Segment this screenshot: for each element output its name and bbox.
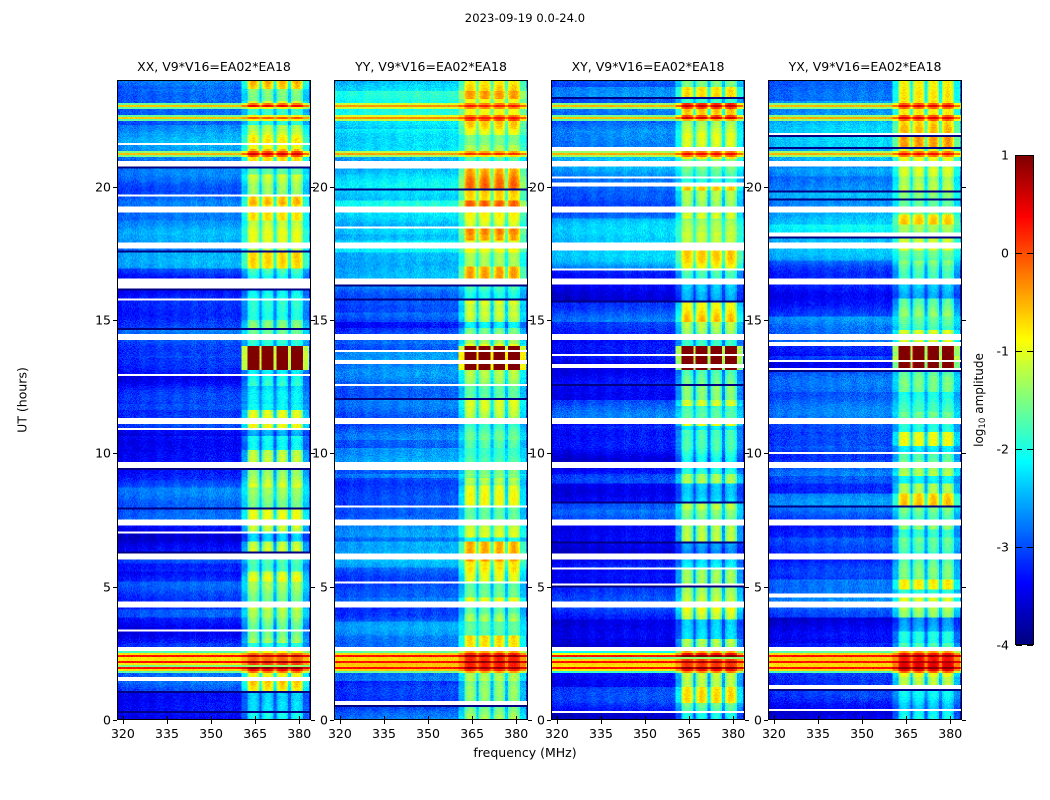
x-tick-inner: [862, 716, 863, 720]
y-tick: [547, 587, 551, 588]
y-tick-right: [528, 587, 532, 588]
x-tick-inner: [428, 716, 429, 720]
x-tick-inner: [774, 716, 775, 720]
y-tick-right: [962, 587, 966, 588]
x-tick: [384, 720, 385, 724]
x-tick-inner: [516, 716, 517, 720]
x-tick-label: 335: [806, 726, 830, 741]
colorbar-tick-label: 1: [981, 148, 1009, 163]
colorbar-tick: [1016, 547, 1022, 548]
x-tick-inner: [299, 716, 300, 720]
y-tick-label: 15: [746, 313, 762, 328]
x-tick-label: 380: [938, 726, 962, 741]
colorbar-tick-label: 0: [981, 246, 1009, 261]
x-tick: [557, 720, 558, 724]
colorbar-tick: [1016, 253, 1022, 254]
x-tick: [516, 720, 517, 724]
y-tick-label: 20: [529, 179, 545, 194]
colorbar-tick-right: [1027, 449, 1033, 450]
x-tick-inner: [384, 716, 385, 720]
y-tick: [764, 453, 768, 454]
x-tick-inner: [601, 716, 602, 720]
heatmap-yx[interactable]: [768, 80, 962, 720]
heatmap-yy[interactable]: [334, 80, 528, 720]
x-tick: [733, 720, 734, 724]
x-tick-inner: [340, 716, 341, 720]
colorbar-tick-label: -4: [981, 638, 1009, 653]
panel-yx: YX, V9*V16=EA02*EA18 3203353503653800510…: [768, 80, 962, 720]
y-tick: [764, 320, 768, 321]
colorbar-tick-right: [1027, 547, 1033, 548]
panel-xx: XX, V9*V16=EA02*EA18 3203353503653800510…: [117, 80, 311, 720]
colorbar-tick: [1016, 351, 1022, 352]
y-tick-label: 0: [754, 713, 762, 728]
x-tick-inner: [818, 716, 819, 720]
panel-title-xy: XY, V9*V16=EA02*EA18: [572, 59, 725, 74]
panel-yy: YY, V9*V16=EA02*EA18 3203353503653800510…: [334, 80, 528, 720]
y-tick-right: [962, 320, 966, 321]
y-tick-right: [962, 453, 966, 454]
x-tick: [689, 720, 690, 724]
x-tick-label: 365: [243, 726, 267, 741]
y-tick-label: 15: [95, 313, 111, 328]
y-tick-label: 10: [529, 446, 545, 461]
y-tick: [113, 453, 117, 454]
x-tick-label: 350: [416, 726, 440, 741]
y-tick-label: 10: [312, 446, 328, 461]
x-tick-label: 350: [633, 726, 657, 741]
y-tick-label: 0: [103, 713, 111, 728]
colorbar-tick-label: -3: [981, 540, 1009, 555]
y-tick: [113, 720, 117, 721]
y-tick-label: 0: [537, 713, 545, 728]
y-tick-label: 10: [746, 446, 762, 461]
x-tick-inner: [733, 716, 734, 720]
colorbar-tick-label: -2: [981, 442, 1009, 457]
y-tick-right: [745, 720, 749, 721]
figure-suptitle: 2023-09-19 0.0-24.0: [0, 11, 1050, 25]
x-tick: [774, 720, 775, 724]
panel-title-yy: YY, V9*V16=EA02*EA18: [355, 59, 507, 74]
y-tick-label: 5: [103, 579, 111, 594]
x-tick-label: 350: [199, 726, 223, 741]
colorbar[interactable]: [1015, 155, 1034, 645]
y-tick-label: 15: [529, 313, 545, 328]
y-tick: [547, 187, 551, 188]
x-tick: [472, 720, 473, 724]
heatmap-xx[interactable]: [117, 80, 311, 720]
x-tick: [906, 720, 907, 724]
colorbar-tick-right: [1027, 253, 1033, 254]
x-axis-label: frequency (MHz): [0, 745, 1050, 760]
y-tick: [764, 720, 768, 721]
y-tick-label: 20: [312, 179, 328, 194]
x-tick: [299, 720, 300, 724]
x-tick-label: 380: [287, 726, 311, 741]
x-tick: [818, 720, 819, 724]
panel-title-xx: XX, V9*V16=EA02*EA18: [137, 59, 291, 74]
y-tick-right: [528, 720, 532, 721]
y-tick: [547, 453, 551, 454]
y-tick: [113, 187, 117, 188]
x-tick-inner: [557, 716, 558, 720]
x-tick-label: 320: [545, 726, 569, 741]
x-tick-label: 365: [460, 726, 484, 741]
y-tick: [330, 453, 334, 454]
x-tick-inner: [167, 716, 168, 720]
x-tick-label: 335: [372, 726, 396, 741]
colorbar-tick-label: -1: [981, 344, 1009, 359]
y-tick: [330, 587, 334, 588]
x-tick: [211, 720, 212, 724]
x-tick: [167, 720, 168, 724]
x-tick-label: 380: [504, 726, 528, 741]
x-tick-label: 320: [328, 726, 352, 741]
panel-title-yx: YX, V9*V16=EA02*EA18: [789, 59, 942, 74]
x-tick: [601, 720, 602, 724]
colorbar-tick-right: [1027, 351, 1033, 352]
x-tick-label: 335: [155, 726, 179, 741]
colorbar-label-rest: amplitude: [972, 353, 986, 417]
x-tick: [645, 720, 646, 724]
x-tick-label: 365: [677, 726, 701, 741]
x-tick-inner: [645, 716, 646, 720]
x-tick-label: 365: [894, 726, 918, 741]
y-tick: [113, 587, 117, 588]
colorbar-tick-right: [1027, 645, 1033, 646]
y-tick-label: 0: [320, 713, 328, 728]
x-tick: [340, 720, 341, 724]
x-tick-label: 320: [111, 726, 135, 741]
y-tick-label: 5: [754, 579, 762, 594]
y-tick-right: [962, 187, 966, 188]
x-tick-label: 380: [721, 726, 745, 741]
y-axis-label: UT (hours): [15, 367, 30, 433]
colorbar-label: log10 amplitude: [972, 353, 988, 447]
y-tick: [113, 320, 117, 321]
colorbar-tick: [1016, 155, 1022, 156]
y-tick-label: 15: [312, 313, 328, 328]
x-tick-label: 335: [589, 726, 613, 741]
colorbar-tick: [1016, 645, 1022, 646]
colorbar-tick-right: [1027, 155, 1033, 156]
x-tick-label: 320: [762, 726, 786, 741]
x-tick: [255, 720, 256, 724]
y-tick-label: 5: [320, 579, 328, 594]
y-tick: [330, 320, 334, 321]
x-tick-inner: [255, 716, 256, 720]
y-tick-label: 10: [95, 446, 111, 461]
x-tick-inner: [906, 716, 907, 720]
x-tick: [950, 720, 951, 724]
figure-canvas: 2023-09-19 0.0-24.0 XX, V9*V16=EA02*EA18…: [0, 0, 1050, 800]
y-tick-right: [962, 720, 966, 721]
y-tick-label: 5: [537, 579, 545, 594]
y-tick-label: 20: [95, 179, 111, 194]
colorbar-label-sub: 10: [978, 418, 988, 429]
y-tick: [764, 587, 768, 588]
x-tick-label: 350: [850, 726, 874, 741]
y-tick: [764, 187, 768, 188]
y-tick: [330, 187, 334, 188]
x-tick-inner: [123, 716, 124, 720]
x-tick-inner: [950, 716, 951, 720]
y-tick-label: 20: [746, 179, 762, 194]
panel-xy: XY, V9*V16=EA02*EA18 3203353503653800510…: [551, 80, 745, 720]
heatmap-xy[interactable]: [551, 80, 745, 720]
y-tick: [330, 720, 334, 721]
y-tick-right: [745, 587, 749, 588]
x-tick: [862, 720, 863, 724]
x-tick-inner: [472, 716, 473, 720]
x-tick-inner: [211, 716, 212, 720]
y-tick: [547, 320, 551, 321]
colorbar-tick: [1016, 449, 1022, 450]
x-tick: [428, 720, 429, 724]
y-tick-right: [311, 587, 315, 588]
y-tick: [547, 720, 551, 721]
y-tick-right: [311, 720, 315, 721]
x-tick-inner: [689, 716, 690, 720]
x-tick: [123, 720, 124, 724]
